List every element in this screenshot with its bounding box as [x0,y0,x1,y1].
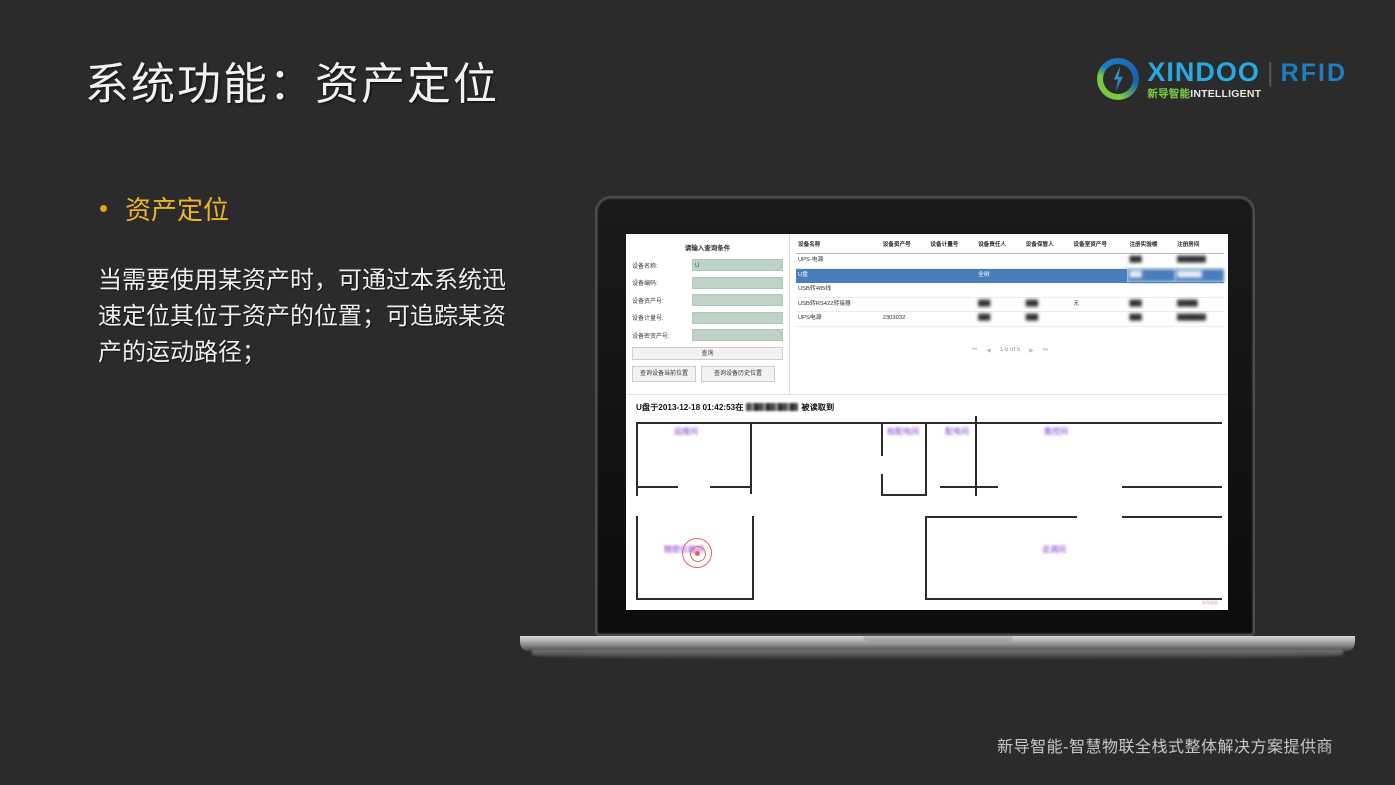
search-button[interactable]: 查询 [632,347,783,360]
laptop-screen: 请输入查询条件 设备名称:U设备编码:设备资产号:设备计量号:设备密资产号: 查… [626,234,1228,610]
table-cell-room-asset-no [1071,253,1127,268]
query-field-label: 设备资产号: [632,296,692,305]
pagination-first-button[interactable]: ⏮ [972,347,977,354]
table-cell-keeper [1024,253,1072,268]
query-form-panel: 请输入查询条件 设备名称:U设备编码:设备资产号:设备计量号:设备密资产号: 查… [626,234,790,394]
query-field-input[interactable] [692,329,783,341]
table-row[interactable]: UPS-电源██████████ [796,253,1224,268]
table-cell-owner [976,253,1024,268]
table-cell-owner: 全树 [976,268,1024,283]
query-field-label: 设备编码: [632,278,692,287]
floorplan-room-label: 集控间 [1044,426,1068,437]
table-cell-room: █████ [1175,297,1224,312]
laptop-lid: 请输入查询条件 设备名称:U设备编码:设备资产号:设备计量号:设备密资产号: 查… [595,196,1255,636]
query-field-label: 设备计量号: [632,313,692,322]
query-field-input[interactable] [692,277,783,289]
table-cell-room: ███████ [1175,312,1224,327]
table-column-header[interactable]: 设备保管人 [1024,240,1072,253]
floorplan-credit: 新导智能 [1202,600,1218,606]
logo-divider: | [1267,59,1274,85]
page-title: 系统功能：资产定位 [85,48,499,112]
slide-footer: 新导智能-智慧物联全栈式整体解决方案提供商 [997,733,1333,757]
table-cell-building: ███ [1127,297,1175,312]
logo-sub-cn: 新导智能 [1147,88,1190,100]
query-field-row: 设备计量号: [632,312,783,324]
table-row[interactable]: U盘全树█████████ [796,268,1224,283]
table-cell-name: U盘 [796,268,881,283]
laptop-base-shadow [532,650,1343,660]
table-cell-room: ██████ [1175,268,1224,283]
bullet-item-label: 资产定位 [125,190,229,227]
query-field-row: 设备密资产号: [632,329,783,341]
table-cell-keeper: ███ [1024,297,1072,312]
query-field-input[interactable] [692,294,783,306]
table-cell-building: ███ [1127,268,1175,283]
table-cell-asset-no [881,297,929,312]
table-cell-meter-no [928,283,976,298]
table-cell-building: ███ [1127,312,1175,327]
bullet-item: 资产定位 [100,190,229,227]
bullet-dot-icon [100,205,107,212]
query-history-location-button[interactable]: 查询设备历史位置 [701,366,775,382]
query-field-row: 设备资产号: [632,294,783,306]
query-fields-list: 设备名称:U设备编码:设备资产号:设备计量号:设备密资产号: [632,259,783,341]
table-cell-keeper [1024,268,1072,283]
query-form-title: 请输入查询条件 [632,242,783,252]
query-field-row: 设备名称:U [632,259,783,271]
table-column-header[interactable]: 设备责任人 [976,240,1024,253]
query-field-input[interactable] [692,312,783,324]
table-cell-asset-no [881,268,929,283]
body-paragraph: 当需要使用某资产时，可通过本系统迅速定位其位于资产的位置；可追踪某资产的运动路径… [98,262,518,370]
status-message: U盘于2013-12-18 01:42:53在 被读取到 [626,394,1228,416]
logo-sub-en: INTELLIGENT [1190,88,1261,100]
table-column-header[interactable]: 设备室资产号 [1071,240,1127,253]
query-current-location-button[interactable]: 查询设备当前位置 [632,366,696,382]
pagination-next-button[interactable]: ▶ [1029,347,1034,354]
table-cell-meter-no [928,268,976,283]
query-field-row: 设备编码: [632,277,783,289]
table-column-header[interactable]: 设备资产号 [881,240,929,253]
table-cell-owner: ███ [976,312,1024,327]
table-cell-meter-no [928,312,976,327]
table-column-header[interactable]: 注册房间 [1175,240,1224,253]
table-cell-name: UPS-电源 [796,253,881,268]
table-cell-room [1175,283,1224,298]
results-table-panel: 设备名称设备资产号设备计量号设备责任人设备保管人设备室资产号注册实验楼注册房间 … [790,234,1228,394]
query-field-label: 设备密资产号: [632,331,692,340]
table-cell-name: USB转485线 [796,283,881,298]
table-column-header[interactable]: 注册实验楼 [1127,240,1175,253]
floorplan-map[interactable]: 运维间检配电间配电间集控间精密仪器间总调间 新导智能 [632,416,1222,609]
table-row[interactable]: USB转485线 [796,283,1224,298]
redacted-location-mask [746,403,798,411]
slide-root: 系统功能：资产定位 XINDOO | RFID 新导智能INTELLIGENT … [0,0,1395,785]
table-cell-asset-no [881,283,929,298]
results-table: 设备名称设备资产号设备计量号设备责任人设备保管人设备室资产号注册实验楼注册房间 … [796,240,1224,327]
table-cell-building: ███ [1127,253,1175,268]
pagination-last-button[interactable]: ⏭ [1043,347,1048,354]
query-field-input[interactable]: U [692,259,783,271]
table-cell-room: ███████ [1175,253,1224,268]
table-cell-keeper: ███ [1024,312,1072,327]
status-message-suffix: 被读取到 [801,401,834,413]
floorplan-room-label: 总调间 [1042,544,1066,555]
table-cell-owner: ███ [976,297,1024,312]
table-cell-keeper [1024,283,1072,298]
table-cell-meter-no [928,297,976,312]
table-row[interactable]: USB转RS422转接器██████无████████ [796,297,1224,312]
logo-product-text: RFID [1281,61,1347,86]
table-column-header[interactable]: 设备名称 [796,240,881,253]
asset-location-app: 请输入查询条件 设备名称:U设备编码:设备资产号:设备计量号:设备密资产号: 查… [626,234,1228,610]
table-cell-owner [976,283,1024,298]
table-header-row: 设备名称设备资产号设备计量号设备责任人设备保管人设备室资产号注册实验楼注册房间 [796,240,1224,253]
table-cell-room-asset-no [1071,283,1127,298]
pagination-prev-button[interactable]: ◀ [986,347,991,354]
table-cell-room-asset-no [1071,312,1127,327]
table-cell-asset-no: 2303032 [881,312,929,327]
location-ping-icon [682,538,712,568]
floorplan-room-label: 检配电间 [887,426,919,437]
table-body: UPS-电源██████████U盘全树█████████USB转485线USB… [796,253,1224,326]
pagination-label: 1-5 of 5 [1000,347,1020,353]
table-cell-name: USB转RS422转接器 [796,297,881,312]
table-row[interactable]: UPS电源2303032████████████████ [796,312,1224,327]
query-field-label: 设备名称: [632,261,692,270]
floorplan-room-label: 配电间 [945,426,969,437]
table-cell-asset-no [881,253,929,268]
laptop-mockup: 请输入查询条件 设备名称:U设备编码:设备资产号:设备计量号:设备密资产号: 查… [520,196,1355,666]
lightning-circle-icon [1097,58,1139,100]
table-cell-room-asset-no [1071,268,1127,283]
floorplan-room-label: 运维间 [674,426,698,437]
table-cell-name: UPS电源 [796,312,881,327]
logo-brand-text: XINDOO [1147,59,1260,86]
brand-logo: XINDOO | RFID 新导智能INTELLIGENT [1097,58,1347,100]
table-cell-room-asset-no: 无 [1071,297,1127,312]
table-cell-meter-no [928,253,976,268]
table-cell-building [1127,283,1175,298]
pagination[interactable]: ⏮ ◀ 1-5 of 5 ▶ ⏭ [796,347,1224,354]
status-message-prefix: U盘于2013-12-18 01:42:53在 [636,401,743,413]
table-column-header[interactable]: 设备计量号 [928,240,976,253]
